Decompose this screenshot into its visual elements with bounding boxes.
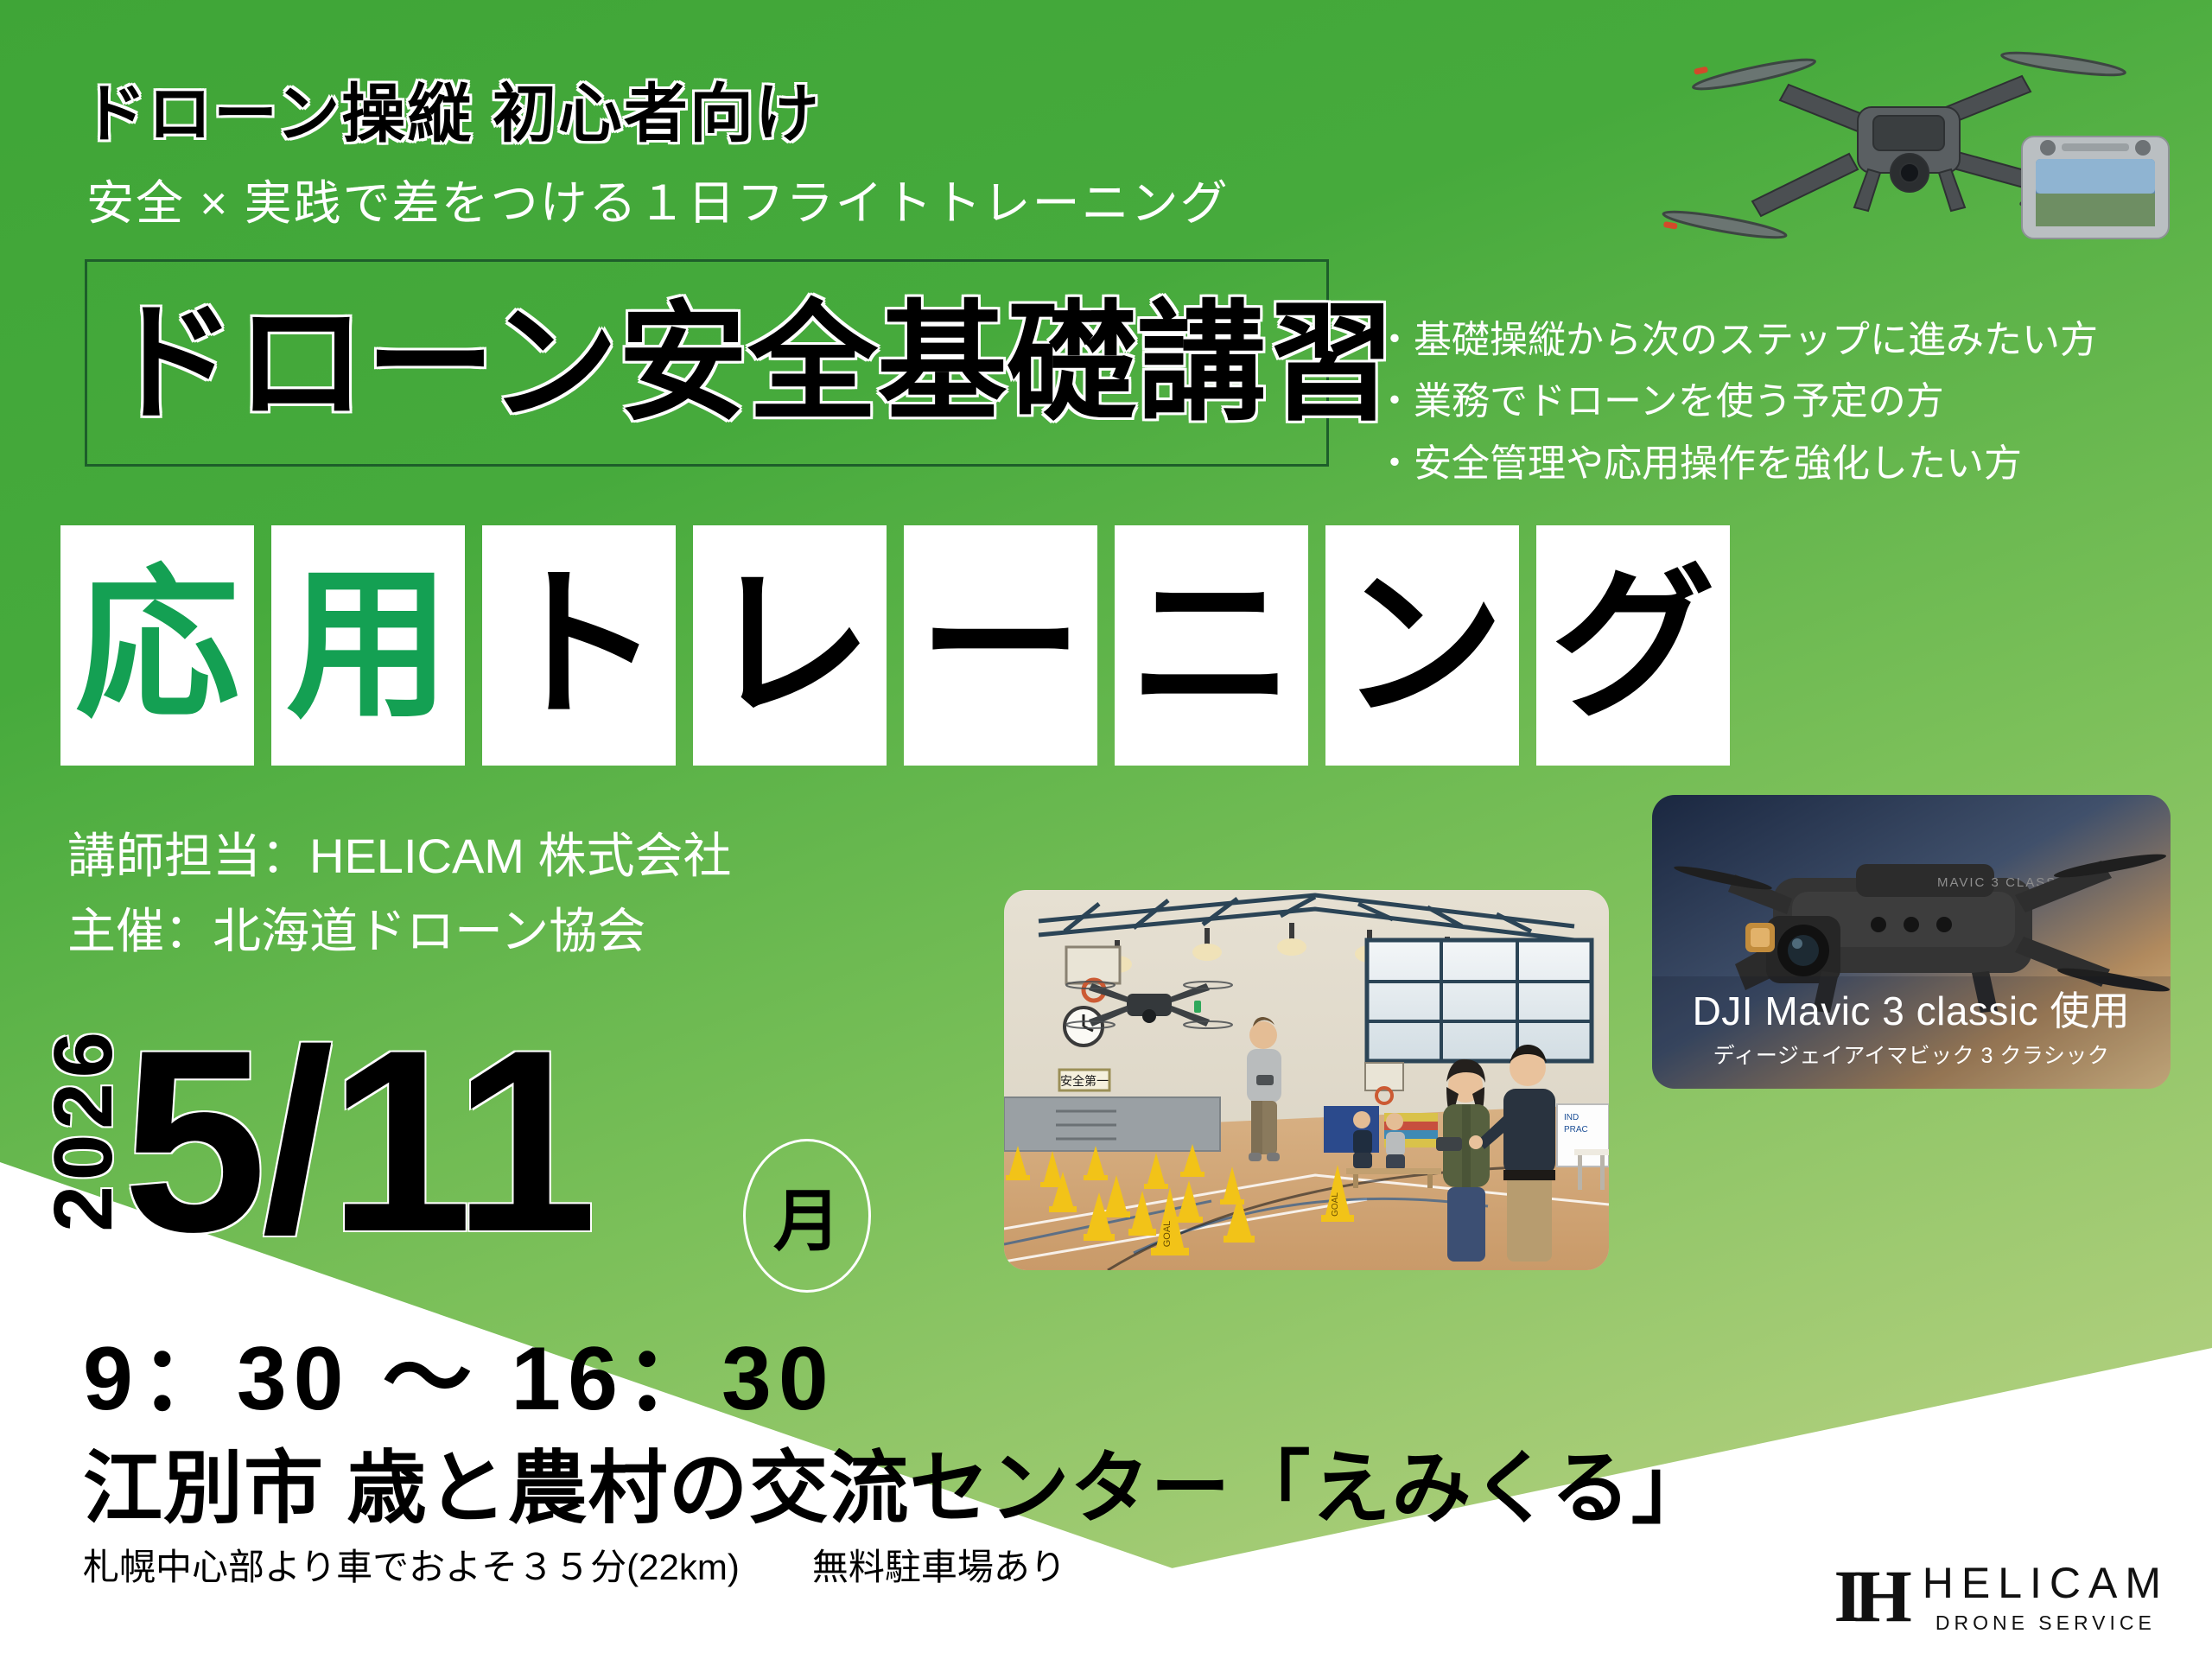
page-title: ドローン安全基礎講習 (106, 298, 1396, 428)
svg-text:PRAC: PRAC (1564, 1125, 1588, 1135)
event-date: 5/11 (123, 1011, 592, 1270)
event-year: 2026 (36, 1027, 131, 1232)
sub-headline: 安全 × 実践で差をつける１日フライトトレーニング (86, 164, 1230, 233)
credits-block: 講師担当：HELICAM 株式会社 主催：北海道ドローン協会 (67, 819, 732, 969)
safety-sign-text: 安全第一 (1060, 1074, 1109, 1088)
char-box: ト (482, 525, 676, 766)
audience-bullet-list: ・基礎操縦から次のステップに進みたい方 ・業務でドローンを使う予定の方 ・安全管… (1376, 309, 2171, 494)
list-item: ・業務でドローンを使う予定の方 (1376, 371, 2171, 432)
list-item: ・基礎操縦から次のステップに進みたい方 (1376, 309, 2171, 371)
main-title-box: ドローン安全基礎講習 (85, 259, 1329, 467)
poster-root: ドローン操縦 初心者向け 安全 × 実践で差をつける１日フライトトレーニング ド… (0, 0, 2212, 1659)
char-box: レ (693, 525, 887, 766)
organizer-line: 主催：北海道ドローン協会 (67, 894, 732, 969)
char-box: ン (1325, 525, 1519, 766)
event-venue: 江別市 歳と農村の交流センター「えみくる」 (83, 1424, 1712, 1539)
cone-goal-text: GOAL (1331, 1192, 1340, 1217)
instructor-line: 講師担当：HELICAM 株式会社 (67, 819, 732, 894)
cone-goal-text: GOAL (1162, 1221, 1173, 1248)
kicker-headline: ドローン操縦 初心者向け (82, 62, 821, 155)
training-word-boxes: 応 用 ト レ ー ニ ン グ (60, 525, 2152, 766)
gym-training-photo: 安全第一 (1004, 890, 1609, 1270)
mavic-product-card: MAVIC 3 CLASSIC (1652, 795, 2171, 1089)
event-access-note: 札幌中心部より車でおよそ３５分(22km) 無料駐車場あり (83, 1538, 1066, 1591)
helicam-monogram-icon: IH (1834, 1563, 1903, 1630)
char-box: グ (1536, 525, 1730, 766)
char-box: ー (904, 525, 1097, 766)
helicam-logo: IH HELICAM DRONE SERVICE (1834, 1558, 2169, 1635)
drone-illustration (1650, 24, 2177, 283)
helicam-wordmark: HELICAM (1923, 1558, 2169, 1608)
svg-text:IND: IND (1564, 1113, 1579, 1122)
event-time: 9：30 ～ 16：30 (83, 1305, 836, 1435)
list-item: ・安全管理や応用操作を強化したい方 (1376, 433, 2171, 494)
char-box: ニ (1115, 525, 1308, 766)
day-of-week-badge: 月 (743, 1139, 871, 1293)
helicam-tagline: DRONE SERVICE (1923, 1611, 2169, 1635)
char-box: 用 (271, 525, 465, 766)
char-box: 応 (60, 525, 254, 766)
